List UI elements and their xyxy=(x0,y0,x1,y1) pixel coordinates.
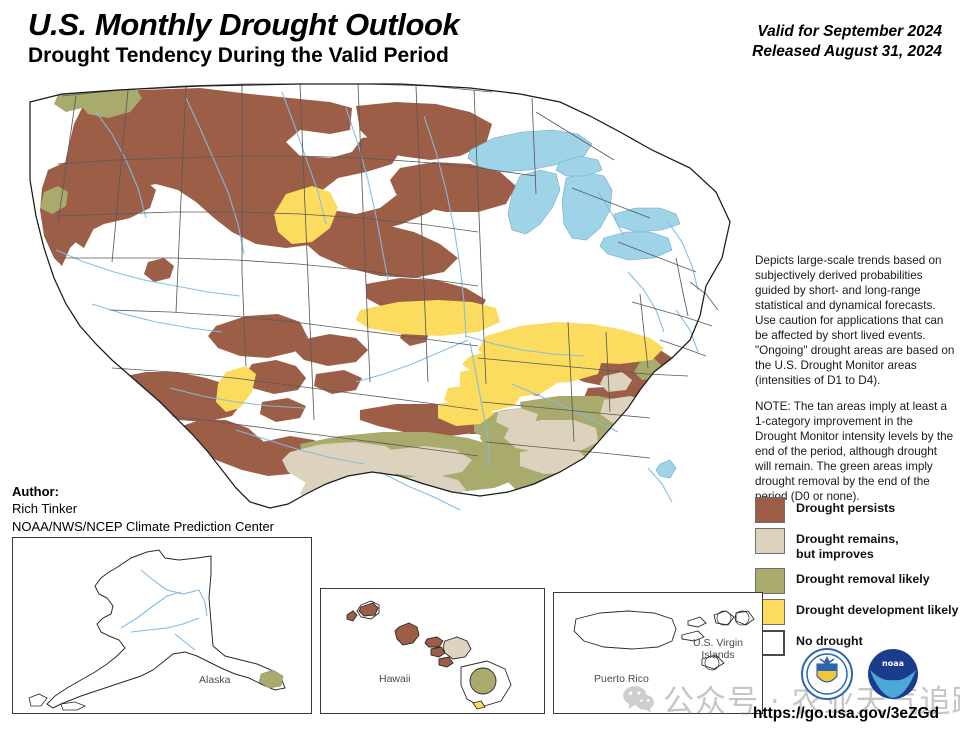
note-paragraph-1: Depicts large-scale trends based on subj… xyxy=(755,253,955,388)
legend-label-improves-line1: Drought remains, xyxy=(796,532,899,547)
page-title: U.S. Monthly Drought Outlook xyxy=(28,8,459,41)
inset-map-puerto-rico: Puerto Rico U.S. Virgin Islands xyxy=(553,592,763,714)
legend-label-persists: Drought persists xyxy=(796,497,895,516)
legend-label-no-drought: No drought xyxy=(796,630,863,649)
valid-for-text: Valid for September 2024 xyxy=(752,22,942,42)
map-legend: Drought persists Drought remains, but im… xyxy=(755,497,960,661)
noaa-logo: noaa xyxy=(868,649,918,699)
drought-outlook-page: U.S. Monthly Drought Outlook Drought Ten… xyxy=(0,0,960,742)
svg-text:noaa: noaa xyxy=(882,659,904,668)
explanatory-notes: Depicts large-scale trends based on subj… xyxy=(755,253,955,505)
hawaii-label: Hawaii xyxy=(379,673,411,685)
author-block: Author: Rich Tinker NOAA/NWS/NCEP Climat… xyxy=(12,483,274,535)
legend-item-improves: Drought remains, but improves xyxy=(755,528,960,561)
legend-label-improves-line2: but improves xyxy=(796,547,899,562)
florida-lake xyxy=(656,460,676,478)
author-heading: Author: xyxy=(12,483,274,500)
legend-label-improves: Drought remains, but improves xyxy=(796,528,899,561)
author-name: Rich Tinker xyxy=(12,500,274,517)
title-block: U.S. Monthly Drought Outlook Drought Ten… xyxy=(28,8,459,69)
legend-swatch-persists xyxy=(755,497,785,523)
virgin-islands-line1: U.S. Virgin xyxy=(693,637,743,649)
inset-map-hawaii: Hawaii xyxy=(320,588,545,714)
inset-map-alaska: Alaska xyxy=(12,537,312,714)
alaska-label: Alaska xyxy=(199,674,231,686)
legend-swatch-improves xyxy=(755,528,785,554)
legend-swatch-removal xyxy=(755,568,785,594)
nws-seal-logo xyxy=(802,649,852,699)
legend-item-removal: Drought removal likely xyxy=(755,568,960,594)
agency-logos: noaa xyxy=(800,648,920,698)
virgin-islands-line2: Islands xyxy=(701,649,734,661)
legend-label-removal: Drought removal likely xyxy=(796,568,930,587)
virgin-islands-label: U.S. Virgin Islands xyxy=(680,637,756,661)
puerto-rico-label: Puerto Rico xyxy=(594,673,649,685)
legend-item-development: Drought development likely xyxy=(755,599,960,625)
note-paragraph-2: NOTE: The tan areas imply at least a 1-c… xyxy=(755,399,955,504)
conus-map xyxy=(0,72,745,542)
legend-label-development: Drought development likely xyxy=(796,599,958,618)
source-url[interactable]: https://go.usa.gov/3eZGd xyxy=(753,705,939,723)
author-affiliation: NOAA/NWS/NCEP Climate Prediction Center xyxy=(12,518,274,535)
validity-block: Valid for September 2024 Released August… xyxy=(752,22,942,63)
page-subtitle: Drought Tendency During the Valid Period xyxy=(28,44,459,68)
released-text: Released August 31, 2024 xyxy=(752,42,942,62)
legend-item-persists: Drought persists xyxy=(755,497,960,523)
